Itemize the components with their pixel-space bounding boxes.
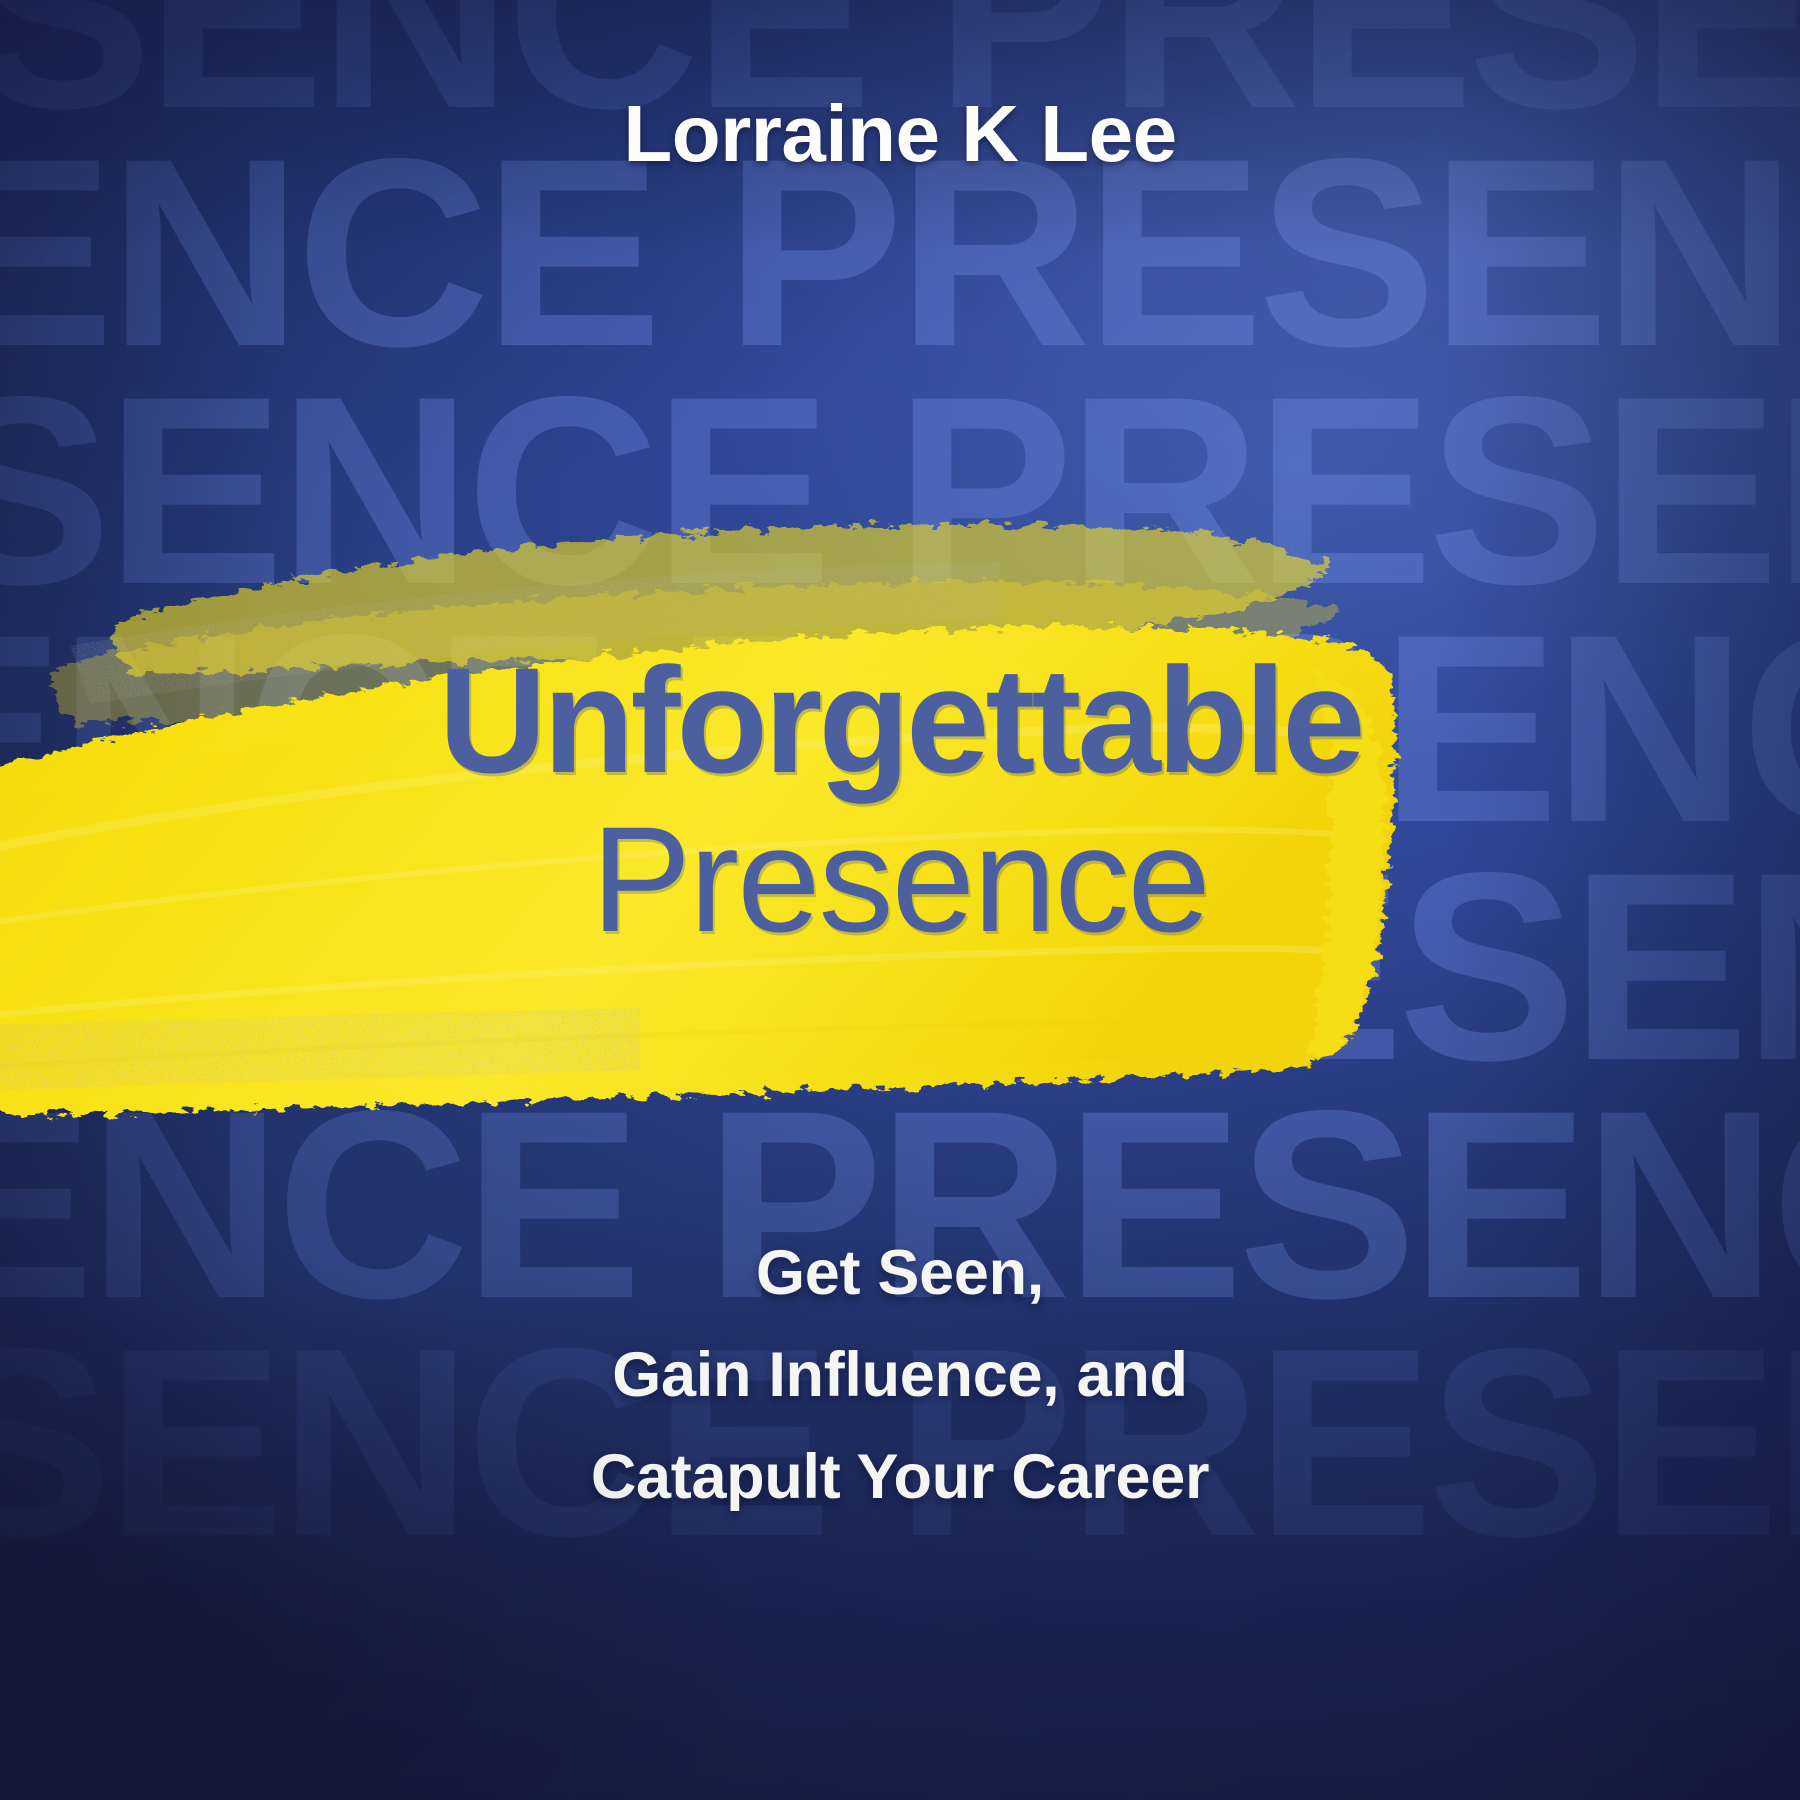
subtitle-line-2: Gain Influence, and	[0, 1324, 1800, 1426]
author-name: Lorraine K Lee	[0, 88, 1800, 180]
subtitle-line-3: Catapult Your Career	[0, 1426, 1800, 1528]
book-cover: PRESENCE PRESENCE PRESENCE PRESENCE PRES…	[0, 0, 1800, 1800]
title-line-secondary: Presence	[0, 801, 1800, 959]
title-line-primary: Unforgettable	[0, 645, 1800, 795]
book-title: Unforgettable Presence	[0, 645, 1800, 959]
book-subtitle: Get Seen, Gain Influence, and Catapult Y…	[0, 1222, 1800, 1528]
subtitle-line-1: Get Seen,	[0, 1222, 1800, 1324]
